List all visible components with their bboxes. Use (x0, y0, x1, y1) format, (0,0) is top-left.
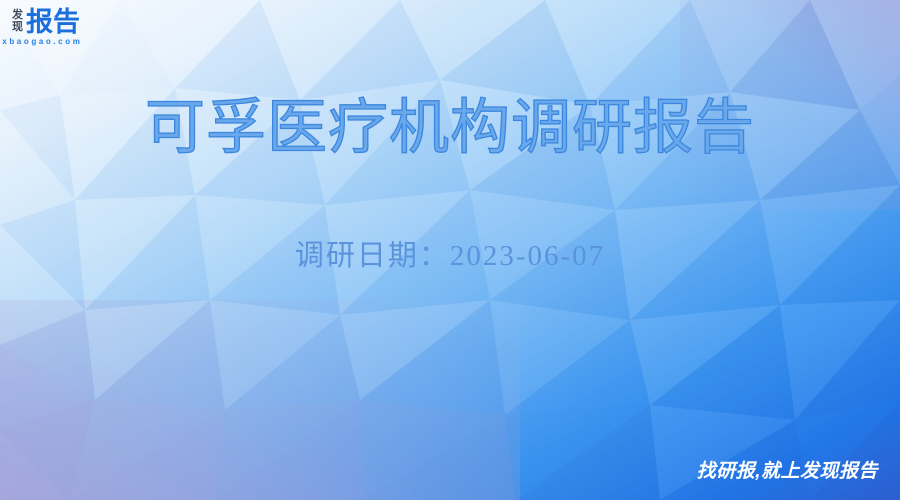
brand-slogan: 找研报,就上发现报告 (697, 460, 878, 483)
logo-char-xian: 现 (12, 22, 23, 34)
logo-char-fa: 发 (12, 10, 23, 22)
logo-url: fxbaogao.com (0, 36, 82, 47)
survey-date-line: 调研日期：2023-06-07 (0, 238, 900, 274)
logo-wordmark: 报告 (26, 9, 82, 35)
report-title: 可孚医疗机构调研报告 (0, 92, 900, 164)
site-logo[interactable]: 发 现 报告 fxbaogao.com (12, 9, 82, 47)
logo-stacked-characters: 发 现 (12, 9, 23, 33)
logo-wordmark-wrap: 报告 fxbaogao.com (26, 9, 82, 47)
presentation-cover-slide: 发 现 报告 fxbaogao.com 可孚医疗机构调研报告 调研日期：2023… (0, 0, 900, 500)
